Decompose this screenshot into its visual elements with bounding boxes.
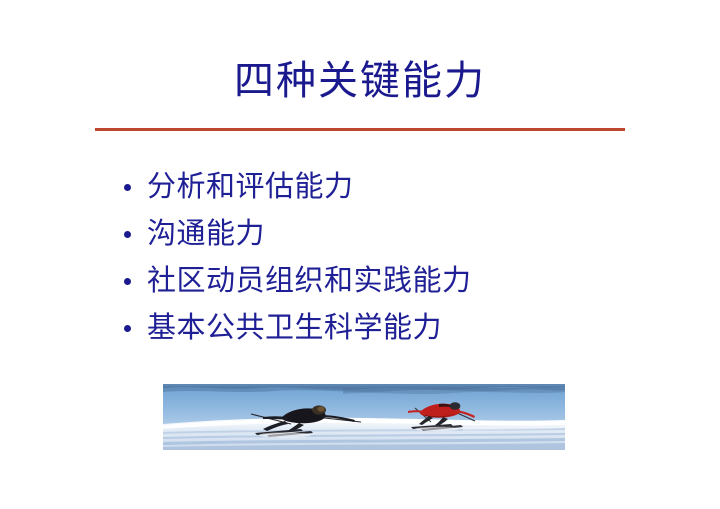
bullet-dot-icon xyxy=(124,184,131,191)
presentation-slide: 四种关键能力 分析和评估能力 沟通能力 社区动员组织和实践能力 基本公共卫生科学… xyxy=(0,0,720,509)
list-item: 社区动员组织和实践能力 xyxy=(120,257,680,304)
list-item-label: 沟通能力 xyxy=(147,210,265,257)
skiers-photo-illustration xyxy=(163,384,565,450)
bullet-dot-icon xyxy=(124,278,131,285)
page-title: 四种关键能力 xyxy=(0,54,720,108)
bullet-dot-icon xyxy=(124,325,131,332)
list-item: 分析和评估能力 xyxy=(120,163,680,210)
bullet-list: 分析和评估能力 沟通能力 社区动员组织和实践能力 基本公共卫生科学能力 xyxy=(120,163,680,351)
list-item: 基本公共卫生科学能力 xyxy=(120,304,680,351)
title-divider-rule xyxy=(95,128,625,131)
list-item-label: 分析和评估能力 xyxy=(147,163,354,210)
list-item: 沟通能力 xyxy=(120,210,680,257)
bullet-dot-icon xyxy=(124,231,131,238)
cross-country-skiers-photo xyxy=(163,384,565,450)
list-item-label: 基本公共卫生科学能力 xyxy=(147,304,442,351)
list-item-label: 社区动员组织和实践能力 xyxy=(147,257,472,304)
